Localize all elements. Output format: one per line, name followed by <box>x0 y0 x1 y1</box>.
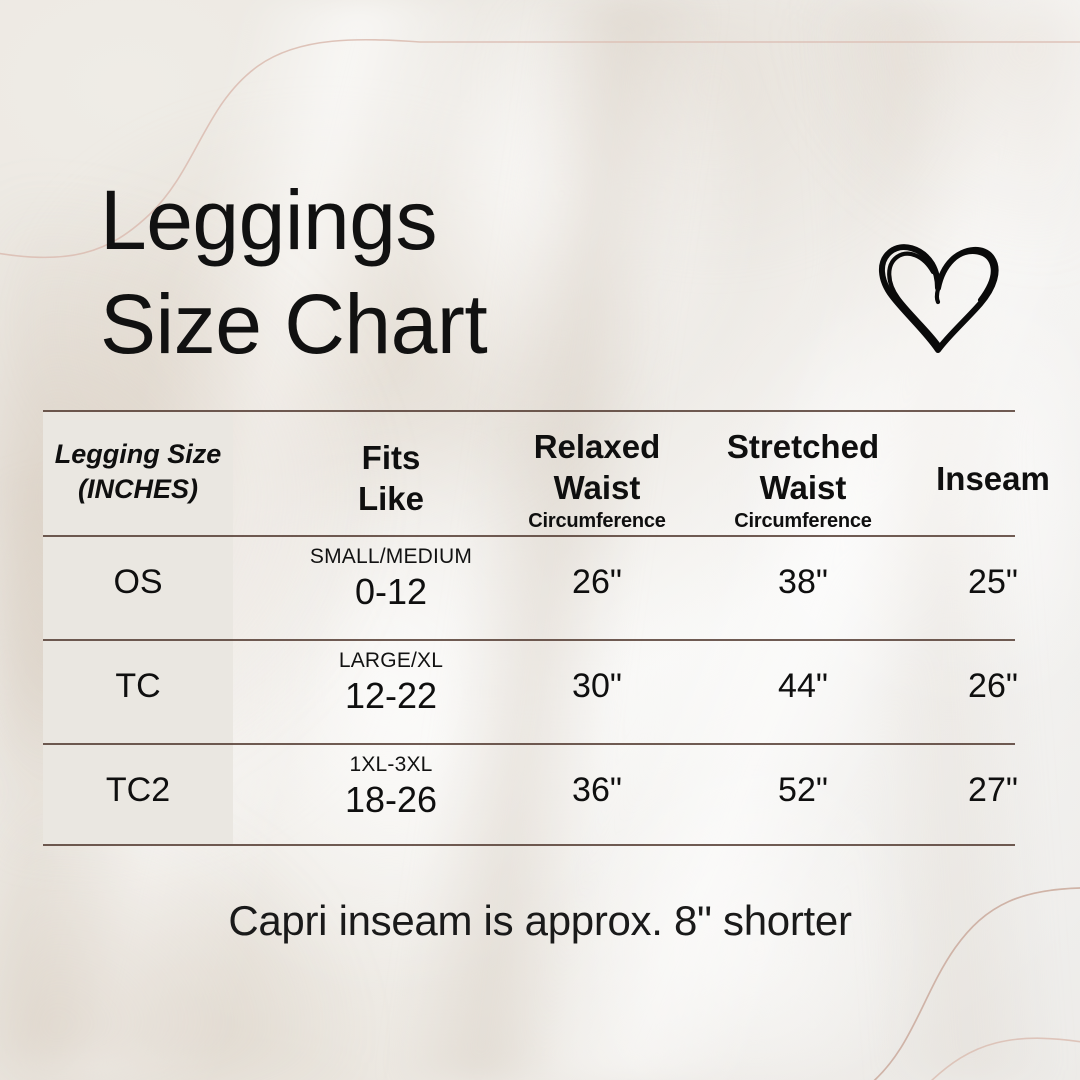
table-row: TC2 <box>43 769 233 811</box>
header-stretched-waist: Stretched Waist Circumference <box>701 426 905 534</box>
cell-stretched-waist: 44" <box>701 665 905 707</box>
table-rule-bottom <box>43 844 1015 846</box>
cell-relaxed-waist: 30" <box>495 665 699 707</box>
fits-like-label: SMALL/MEDIUM <box>301 544 481 570</box>
size-chart-page: Leggings Size Chart Legging Size (INCHES… <box>0 0 1080 1080</box>
header-legging-size: Legging Size (INCHES) <box>43 437 233 507</box>
size-chart-table: Legging Size (INCHES) Fits Like Relaxed … <box>43 410 1015 846</box>
header-relaxed-waist-sub: Circumference <box>495 508 699 534</box>
table-row: OS <box>43 561 233 603</box>
cell-fits-like: 1XL-3XL 18-26 <box>301 752 481 822</box>
header-relaxed-waist: Relaxed Waist Circumference <box>495 426 699 534</box>
fits-like-label: 1XL-3XL <box>301 752 481 778</box>
table-rule-top <box>43 410 1015 412</box>
cell-fits-like: SMALL/MEDIUM 0-12 <box>301 544 481 614</box>
cell-inseam: 25" <box>909 561 1077 603</box>
cell-inseam: 27" <box>909 769 1077 811</box>
table-rule-header <box>43 535 1015 537</box>
fits-like-range: 12-22 <box>301 674 481 718</box>
header-stretched-waist-main: Stretched Waist <box>727 428 879 506</box>
header-fits-like: Fits Like <box>301 437 481 519</box>
header-stretched-waist-sub: Circumference <box>701 508 905 534</box>
cell-relaxed-waist: 26" <box>495 561 699 603</box>
fits-like-range: 0-12 <box>301 570 481 614</box>
cell-stretched-waist: 52" <box>701 769 905 811</box>
header-inseam: Inseam <box>909 458 1077 499</box>
heart-icon <box>868 232 1008 360</box>
table-rule-row1 <box>43 639 1015 641</box>
cell-stretched-waist: 38" <box>701 561 905 603</box>
cell-relaxed-waist: 36" <box>495 769 699 811</box>
fits-like-label: LARGE/XL <box>301 648 481 674</box>
footer-note: Capri inseam is approx. 8" shorter <box>0 894 1080 948</box>
fits-like-range: 18-26 <box>301 778 481 822</box>
header-relaxed-waist-main: Relaxed Waist <box>534 428 661 506</box>
table-rule-row2 <box>43 743 1015 745</box>
table-row: TC <box>43 665 233 707</box>
page-title: Leggings Size Chart <box>100 168 487 376</box>
cell-fits-like: LARGE/XL 12-22 <box>301 648 481 718</box>
cell-inseam: 26" <box>909 665 1077 707</box>
